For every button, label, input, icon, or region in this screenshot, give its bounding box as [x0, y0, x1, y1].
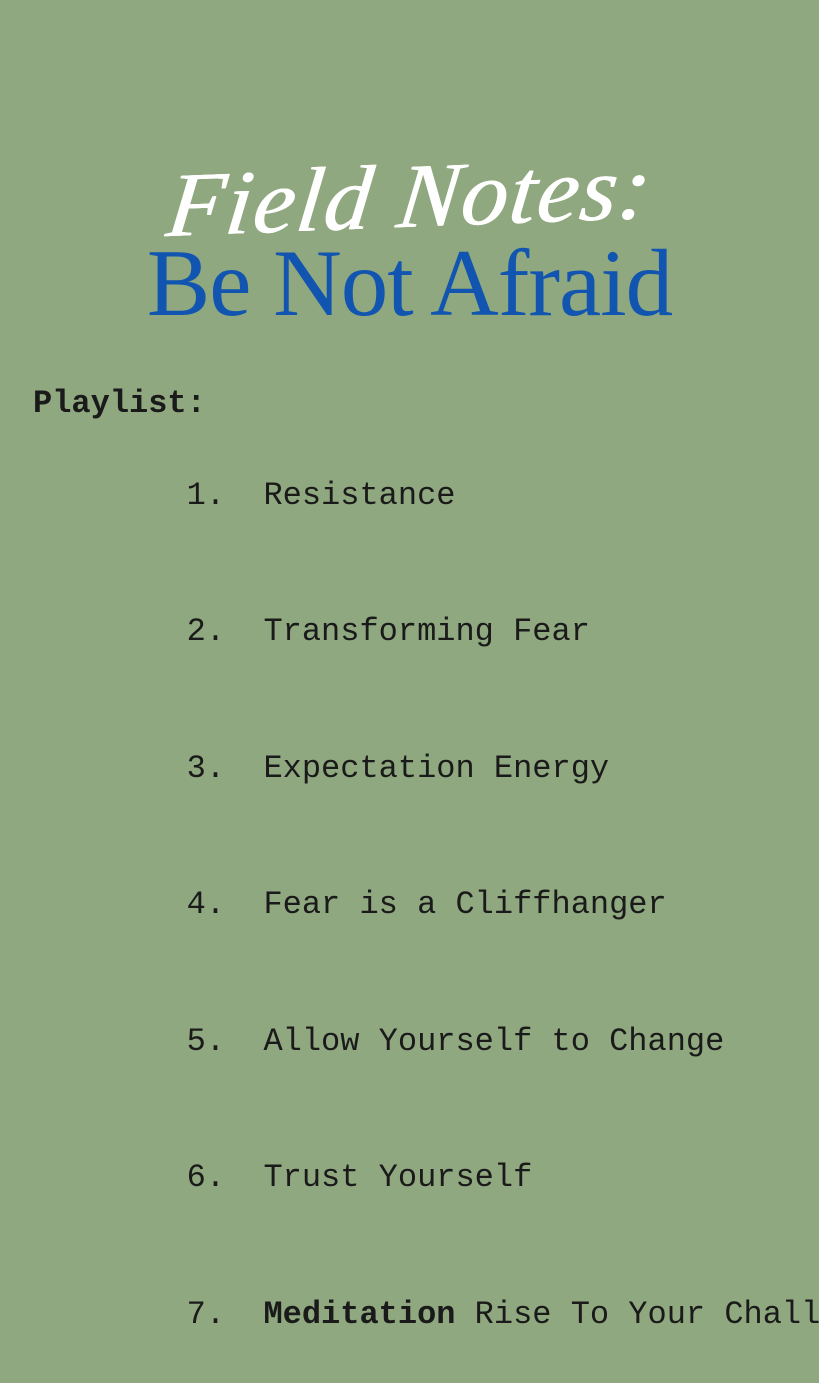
list-item-number: 1.	[187, 477, 225, 514]
list-item-number: 7.	[187, 1296, 225, 1333]
title-main-be-not-afraid: Be Not Afraid	[0, 236, 819, 331]
list-item: 1. Resistance	[33, 427, 813, 564]
list-item-prefix: Meditation	[263, 1296, 455, 1333]
list-item-label: Expectation Energy	[263, 750, 609, 787]
title-block: Field Notes: Be Not Afraid	[0, 150, 819, 380]
playlist-section: Playlist: 1. Resistance 2. Transforming …	[33, 381, 813, 1383]
list-item: 3. Expectation Energy	[33, 700, 813, 837]
list-item: 5. Allow Yourself to Change	[33, 973, 813, 1110]
list-item-label: Rise To Your Challenge	[455, 1296, 819, 1333]
list-item-label: Resistance	[263, 477, 455, 514]
playlist-heading: Playlist:	[33, 381, 813, 427]
list-item: 2. Transforming Fear	[33, 564, 813, 701]
poster-canvas: Field Notes: Be Not Afraid Playlist: 1. …	[0, 0, 819, 1024]
list-item-label: Fear is a Cliffhanger	[263, 886, 666, 923]
list-item-label: Transforming Fear	[263, 613, 589, 650]
list-item: 4. Fear is a Cliffhanger	[33, 837, 813, 974]
list-item: 7. Meditation Rise To Your Challenge	[33, 1246, 813, 1383]
list-item-number: 6.	[187, 1159, 225, 1196]
list-item-number: 5.	[187, 1023, 225, 1060]
list-item-number: 4.	[187, 886, 225, 923]
playlist-list: 1. Resistance 2. Transforming Fear 3. Ex…	[33, 427, 813, 1383]
list-item-number: 2.	[187, 613, 225, 650]
list-item-number: 3.	[187, 750, 225, 787]
list-item: 6. Trust Yourself	[33, 1110, 813, 1247]
list-item-label: Allow Yourself to Change	[263, 1023, 724, 1060]
list-item-label: Trust Yourself	[263, 1159, 532, 1196]
